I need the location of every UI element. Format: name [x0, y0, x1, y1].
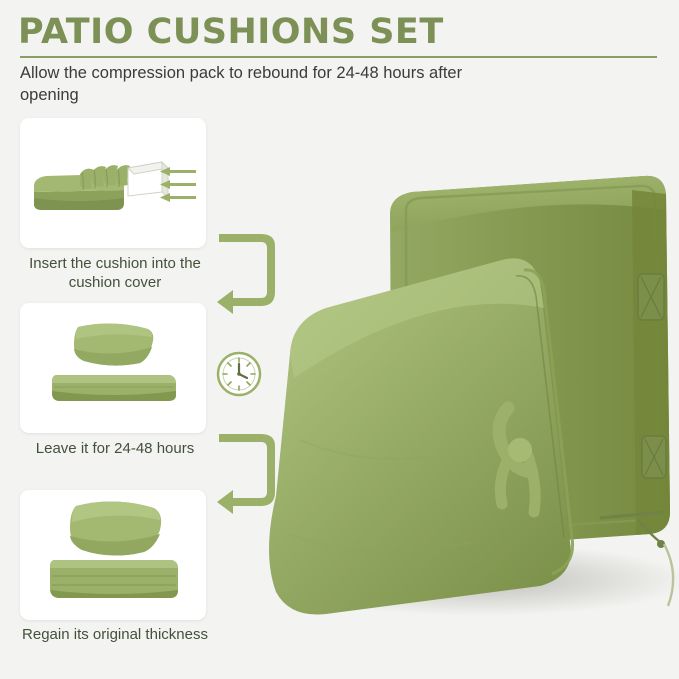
step-caption-2: Leave it for 24-48 hours — [15, 440, 215, 459]
step-card-1 — [20, 118, 206, 248]
step-card-2 — [20, 303, 206, 433]
cushion-into-cover-illustration — [20, 118, 206, 248]
clock-label: 24-48 hours waiting time — [0, 0, 1, 1]
product-photo — [240, 140, 679, 620]
stacked-cushions-illustration — [20, 303, 206, 433]
step-card-3 — [20, 490, 206, 620]
side-handle — [638, 274, 664, 320]
step-caption-3: Regain its original thickness — [15, 626, 215, 645]
page-subtitle: Allow the compression pack to rebound fo… — [20, 62, 490, 107]
page-title: PATIO CUSHIONS SET — [18, 12, 444, 52]
side-handle-lower — [642, 436, 666, 478]
product-infographic: PATIO CUSHIONS SET Allow the compression… — [0, 0, 679, 679]
step-caption-1: Insert the cushion into the cushion cove… — [15, 255, 215, 293]
back-cushion — [269, 258, 573, 614]
title-divider — [20, 56, 657, 58]
restored-thickness-cushions-illustration — [20, 490, 206, 620]
